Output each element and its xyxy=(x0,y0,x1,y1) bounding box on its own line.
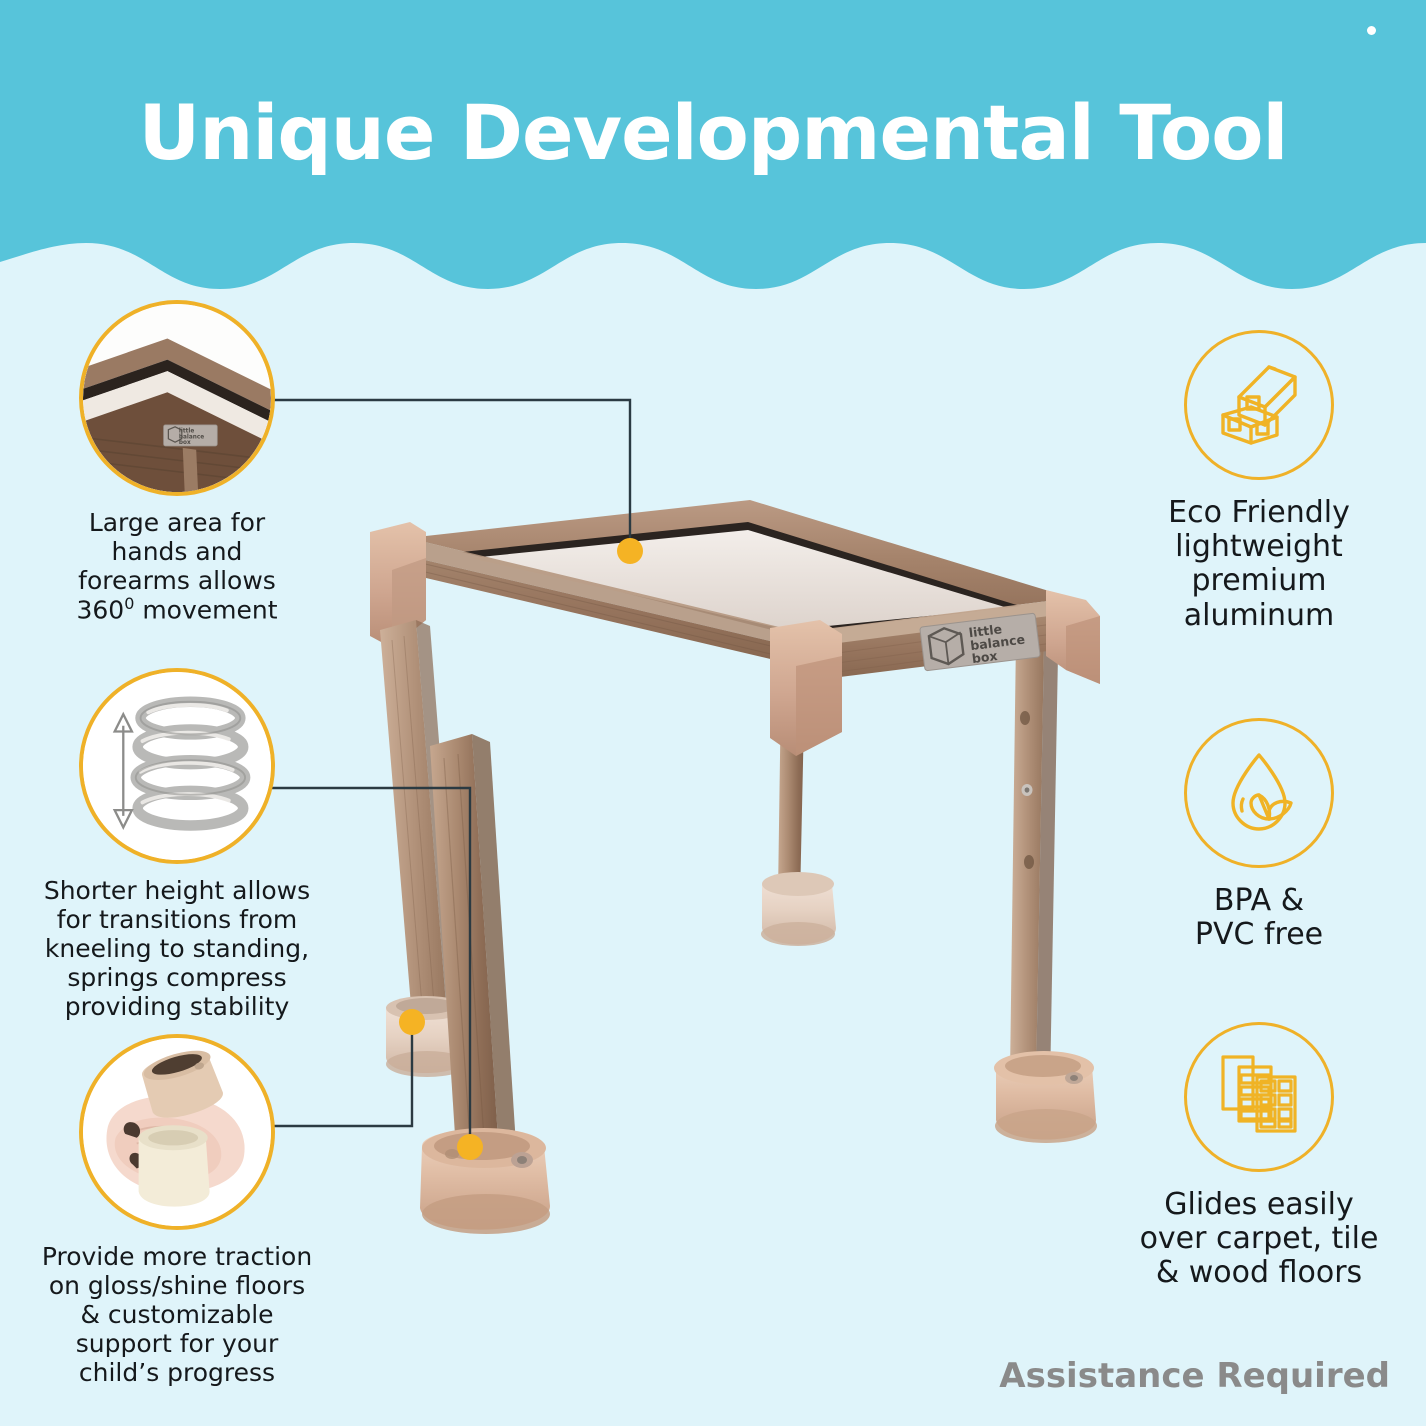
floor-samples-icon xyxy=(1205,1043,1313,1151)
feature-eco-aluminum: Eco Friendly lightweight premium aluminu… xyxy=(1104,330,1414,633)
hand-holding-silicone-caps-photo xyxy=(83,1038,271,1226)
icon-circle-floors xyxy=(1184,1022,1334,1172)
feature-glides-floors: Glides easily over carpet, tile & wood f… xyxy=(1104,1022,1414,1291)
table-frame: little balance box xyxy=(370,500,1100,756)
assistance-required-note: Assistance Required xyxy=(999,1356,1390,1396)
feature-large-area: little balance box Large area for hands … xyxy=(12,300,342,624)
photo-spring xyxy=(79,668,275,864)
feature-text-traction: Provide more traction on gloss/shine flo… xyxy=(12,1242,342,1387)
feature-spring-height: Shorter height allows for transitions fr… xyxy=(12,668,342,1021)
feature-text-bpa: BPA & PVC free xyxy=(1104,884,1414,952)
foot-cap-front-center xyxy=(420,1128,550,1234)
header-banner: Unique Developmental Tool xyxy=(0,0,1426,300)
photo-traction-caps xyxy=(79,1034,275,1230)
water-droplet-leaf-icon xyxy=(1207,741,1311,845)
feature-text-large-area: Large area for hands and forearms allows… xyxy=(12,508,342,624)
photo-large-area: little balance box xyxy=(79,300,275,496)
leg-rear-right xyxy=(1010,638,1058,1086)
icon-circle-bpa xyxy=(1184,718,1334,868)
feature-traction-caps: Provide more traction on gloss/shine flo… xyxy=(12,1034,342,1387)
svg-text:box: box xyxy=(971,648,998,666)
cream-cap xyxy=(139,1125,210,1206)
table-top-corner-photo: little balance box xyxy=(83,304,271,492)
compression-spring-photo xyxy=(83,672,271,860)
product-illustration-balance-table: little balance box xyxy=(330,470,1120,1260)
aluminum-beams-icon xyxy=(1207,353,1311,457)
page-title: Unique Developmental Tool xyxy=(0,88,1426,177)
feature-text-spring: Shorter height allows for transitions fr… xyxy=(12,876,342,1021)
feature-text-glides: Glides easily over carpet, tile & wood f… xyxy=(1104,1188,1414,1291)
svg-text:box: box xyxy=(179,440,191,446)
foot-cap-rear-middle xyxy=(761,872,836,946)
foot-cap-rear-right xyxy=(994,1051,1097,1143)
feature-bpa-pvc-free: BPA & PVC free xyxy=(1104,718,1414,952)
header-accent-dot xyxy=(1367,26,1376,35)
icon-circle-aluminum xyxy=(1184,330,1334,480)
feature-text-eco-aluminum: Eco Friendly lightweight premium aluminu… xyxy=(1104,496,1414,633)
